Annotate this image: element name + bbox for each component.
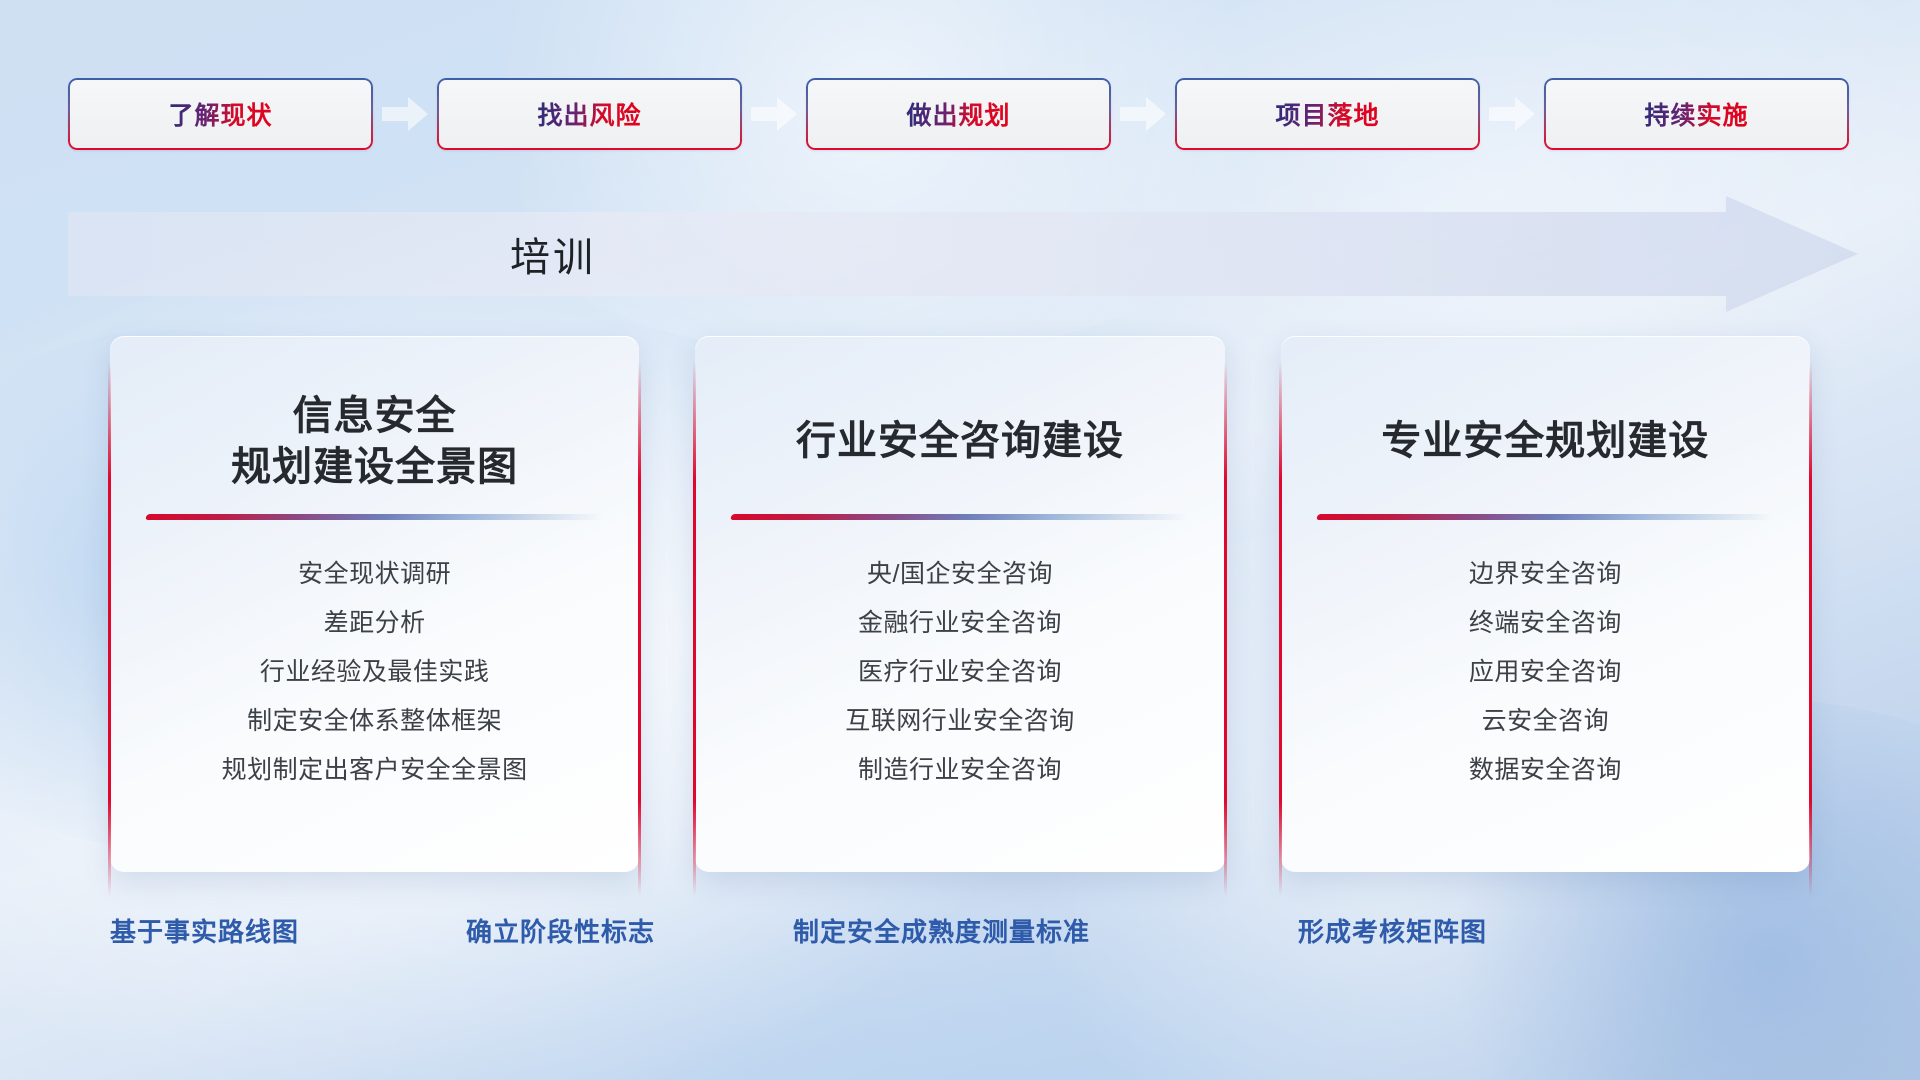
service-card-title: 行业安全咨询建设 <box>796 390 1124 494</box>
process-step-5[interactable]: 持续实施 <box>1544 78 1849 150</box>
outcome-label-1: 基于事实路线图 <box>110 912 299 949</box>
service-card-2[interactable]: 行业安全咨询建设 央/国企安全咨询 金融行业安全咨询 医疗行业安全咨询 互联网行… <box>695 336 1224 872</box>
service-cards: 信息安全 规划建设全景图 安全现状调研 差距分析 行业经验及最佳实践 制定安全体… <box>110 336 1810 872</box>
list-item: 差距分析 <box>146 599 603 648</box>
process-step-label: 项目落地 <box>1275 96 1379 132</box>
list-item: 数据安全咨询 <box>1317 746 1774 795</box>
list-item: 制定安全体系整体框架 <box>146 697 603 746</box>
list-item: 金融行业安全咨询 <box>731 599 1188 648</box>
list-item: 终端安全咨询 <box>1317 599 1774 648</box>
outcome-label-4: 形成考核矩阵图 <box>1298 912 1487 949</box>
process-step-label: 了解现状 <box>168 96 272 132</box>
process-step-label: 做出规划 <box>906 96 1010 132</box>
card-divider <box>1316 514 1775 520</box>
list-item: 制造行业安全咨询 <box>731 746 1188 795</box>
list-item: 边界安全咨询 <box>1317 550 1774 599</box>
service-card-list: 边界安全咨询 终端安全咨询 应用安全咨询 云安全咨询 数据安全咨询 <box>1317 550 1774 795</box>
service-card-list: 央/国企安全咨询 金融行业安全咨询 医疗行业安全咨询 互联网行业安全咨询 制造行… <box>731 550 1188 795</box>
list-item: 医疗行业安全咨询 <box>731 648 1188 697</box>
chevron-right-icon <box>373 92 437 136</box>
service-card-3[interactable]: 专业安全规划建设 边界安全咨询 终端安全咨询 应用安全咨询 云安全咨询 数据安全… <box>1281 336 1810 872</box>
process-steps: 了解现状 找出风险 做出规划 项目落地 <box>68 78 1852 150</box>
process-step-label: 找出风险 <box>537 96 641 132</box>
service-card-title: 信息安全 规划建设全景图 <box>231 390 518 494</box>
slide-canvas: 了解现状 找出风险 做出规划 项目落地 <box>0 0 1920 1080</box>
list-item: 央/国企安全咨询 <box>731 550 1188 599</box>
process-step-2[interactable]: 找出风险 <box>437 78 742 150</box>
service-card-title-line: 行业安全咨询建设 <box>796 416 1124 467</box>
card-divider <box>145 514 604 520</box>
chevron-right-icon <box>742 92 806 136</box>
service-card-title-line: 专业安全规划建设 <box>1381 416 1709 467</box>
card-divider <box>730 514 1189 520</box>
process-step-4[interactable]: 项目落地 <box>1175 78 1480 150</box>
process-step-1[interactable]: 了解现状 <box>68 78 373 150</box>
training-banner-label: 培训 <box>68 225 1858 283</box>
process-step-3[interactable]: 做出规划 <box>806 78 1111 150</box>
service-card-title-line: 规划建设全景图 <box>231 442 518 493</box>
outcome-label-3: 制定安全成熟度测量标准 <box>793 912 1090 949</box>
list-item: 安全现状调研 <box>146 550 603 599</box>
service-card-title-line: 信息安全 <box>231 391 518 442</box>
list-item: 应用安全咨询 <box>1317 648 1774 697</box>
list-item: 互联网行业安全咨询 <box>731 697 1188 746</box>
service-card-1[interactable]: 信息安全 规划建设全景图 安全现状调研 差距分析 行业经验及最佳实践 制定安全体… <box>110 336 639 872</box>
chevron-right-icon <box>1111 92 1175 136</box>
outcome-labels: 基于事实路线图 确立阶段性标志 制定安全成熟度测量标准 形成考核矩阵图 <box>0 912 1920 958</box>
list-item: 云安全咨询 <box>1317 697 1774 746</box>
service-card-title: 专业安全规划建设 <box>1381 390 1709 494</box>
chevron-right-icon <box>1480 92 1544 136</box>
list-item: 规划制定出客户安全全景图 <box>146 746 603 795</box>
outcome-label-2: 确立阶段性标志 <box>466 912 655 949</box>
training-banner: 培训 <box>68 196 1858 312</box>
service-card-list: 安全现状调研 差距分析 行业经验及最佳实践 制定安全体系整体框架 规划制定出客户… <box>146 550 603 795</box>
process-step-label: 持续实施 <box>1644 96 1748 132</box>
list-item: 行业经验及最佳实践 <box>146 648 603 697</box>
